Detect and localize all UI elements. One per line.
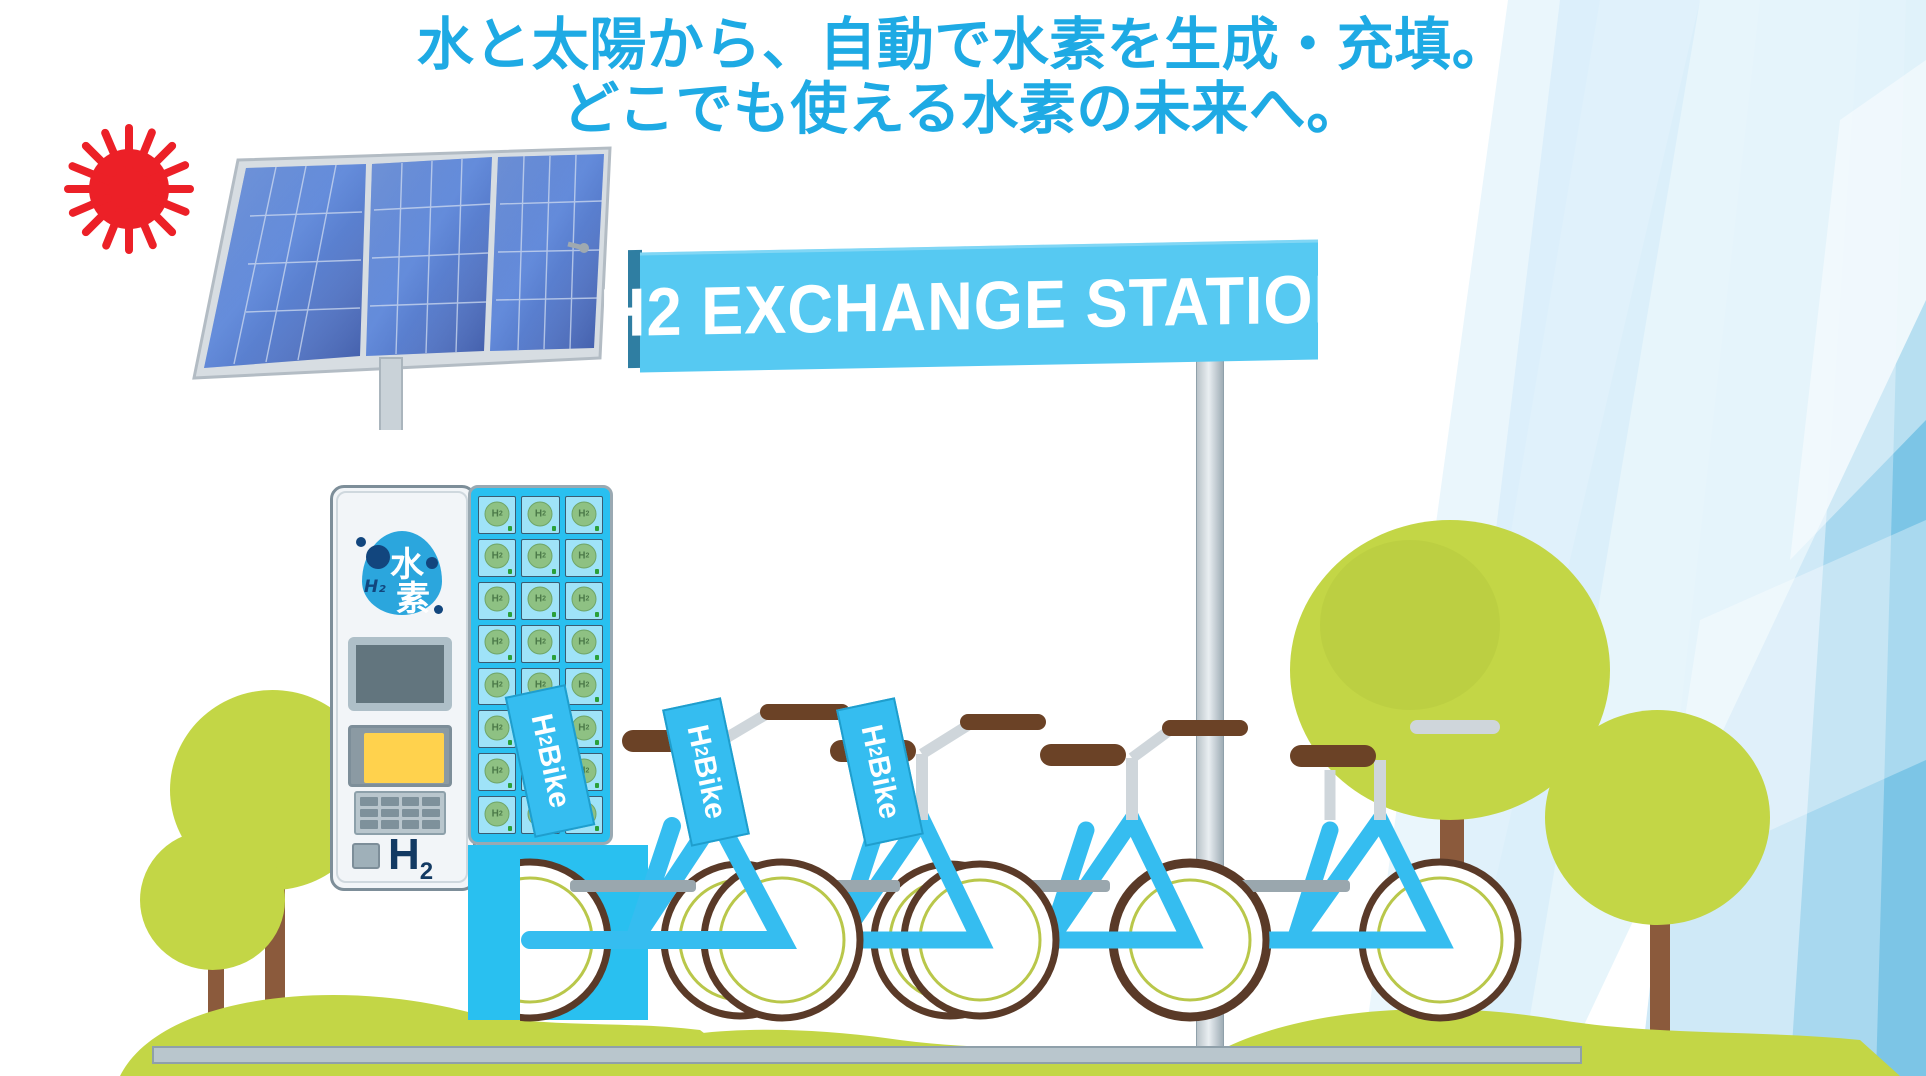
hydrogen-cartridge-icon: H2 (528, 501, 553, 526)
machine-brand-sub: 2 (420, 858, 433, 885)
hydrogen-cartridge-icon: H2 (571, 630, 596, 655)
hydrogen-cartridge-icon: H2 (571, 501, 596, 526)
headline: 水と太陽から、自動で水素を生成・充填。 どこでも使える水素の未来へ。 (0, 14, 1926, 142)
machine-brand-main: H (388, 830, 420, 879)
hydrogen-cartridge-icon: H2 (528, 587, 553, 612)
machine-brand-label: H2 (388, 833, 433, 884)
locker-status-led (552, 526, 556, 531)
headline-line-1: 水と太陽から、自動で水素を生成・充填。 (0, 14, 1926, 78)
machine-payment-card[interactable] (364, 733, 444, 783)
locker-status-led (508, 740, 512, 745)
locker-status-led (595, 655, 599, 660)
locker-cell[interactable]: H2 (565, 625, 603, 663)
locker-status-led (595, 569, 599, 574)
bike-label-word: Bike (530, 742, 576, 811)
locker-status-led (508, 783, 512, 788)
sign-text: H2 EXCHANGE STATION (673, 250, 1287, 362)
locker-status-led (552, 612, 556, 617)
locker-cell[interactable]: H2 (478, 582, 516, 620)
machine-keypad[interactable] (354, 791, 446, 835)
locker-status-led (508, 826, 512, 831)
locker-cell[interactable]: H2 (565, 582, 603, 620)
machine-display-screen[interactable] (348, 637, 452, 711)
locker-status-led (595, 526, 599, 531)
locker-cell[interactable]: H2 (565, 539, 603, 577)
locker-cell[interactable]: H2 (521, 625, 559, 663)
water-drop-icon: 水 素 H₂ (354, 519, 448, 623)
hydrogen-cartridge-icon: H2 (485, 544, 510, 569)
bike-label-word: Bike (860, 753, 906, 822)
machine-coin-slot[interactable] (352, 843, 380, 869)
locker-cell[interactable]: H2 (521, 582, 559, 620)
hydrogen-cartridge-icon: H2 (485, 801, 510, 826)
locker-cell[interactable]: H2 (478, 796, 516, 834)
hydrogen-cartridge-icon: H2 (528, 544, 553, 569)
locker-cell[interactable]: H2 (478, 496, 516, 534)
locker-cell[interactable]: H2 (565, 496, 603, 534)
hydrogen-cartridge-icon: H2 (485, 630, 510, 655)
logo-kanji: 水 素 H₂ (354, 519, 448, 623)
hydrogen-cartridge-icon: H2 (485, 673, 510, 698)
solar-panel-icon (180, 130, 630, 400)
poster-canvas: 水と太陽から、自動で水素を生成・充填。 どこでも使える水素の未来へ。 (0, 0, 1926, 1076)
locker-status-led (508, 526, 512, 531)
hydrogen-cartridge-icon: H2 (485, 758, 510, 783)
locker-status-led (552, 655, 556, 660)
locker-status-led (552, 569, 556, 574)
locker-cell[interactable]: H2 (521, 539, 559, 577)
station-platform (152, 1046, 1582, 1064)
locker-status-led (508, 569, 512, 574)
locker-status-led (595, 612, 599, 617)
hydrogen-cartridge-icon: H2 (485, 715, 510, 740)
locker-cell[interactable]: H2 (478, 753, 516, 791)
station-sign: H2 EXCHANGE STATION (628, 238, 1318, 368)
logo-kanji-bottom: 素 (396, 571, 430, 620)
locker-cell[interactable]: H2 (521, 496, 559, 534)
hydrogen-cartridge-icon: H2 (485, 587, 510, 612)
locker-status-led (508, 612, 512, 617)
bike-label-word: Bike (686, 753, 732, 822)
hydrogen-cartridge-icon: H2 (571, 673, 596, 698)
hydrogen-cartridge-icon: H2 (571, 587, 596, 612)
locker-cell[interactable]: H2 (478, 539, 516, 577)
hydrogen-cartridge-icon: H2 (571, 544, 596, 569)
hydrogen-cartridge-icon: H2 (528, 630, 553, 655)
locker-status-led (508, 655, 512, 660)
hydrogen-cartridge-icon: H2 (485, 501, 510, 526)
locker-cell[interactable]: H2 (478, 625, 516, 663)
logo-formula: H₂ (364, 577, 386, 597)
